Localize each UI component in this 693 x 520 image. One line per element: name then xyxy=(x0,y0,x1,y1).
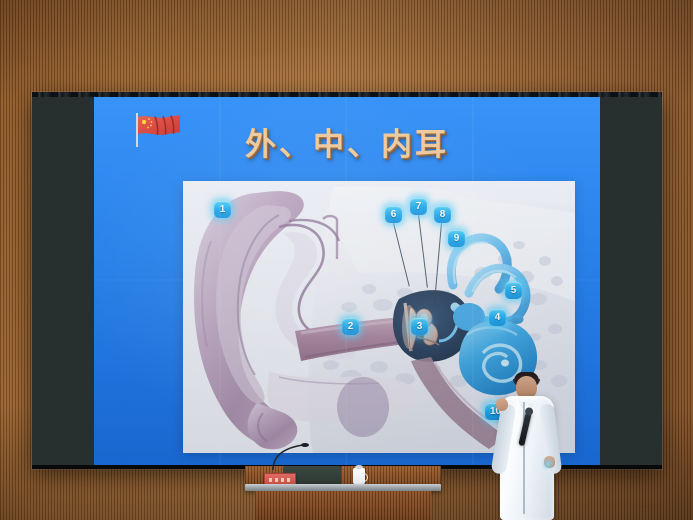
diagram-label-2[interactable]: 2 xyxy=(342,318,359,335)
pillarbox-left xyxy=(32,97,94,465)
diagram-label-5[interactable]: 5 xyxy=(505,282,522,299)
podium xyxy=(245,466,441,520)
diagram-label-3[interactable]: 3 xyxy=(411,318,428,335)
diagram-label-7[interactable]: 7 xyxy=(410,198,427,215)
diagram-label-1[interactable]: 1 xyxy=(214,201,231,218)
pillarbox-right xyxy=(600,97,662,465)
diagram-label-6[interactable]: 6 xyxy=(385,206,402,223)
presenter xyxy=(496,372,558,520)
diagram-label-8[interactable]: 8 xyxy=(434,206,451,223)
podium-desk-surface xyxy=(245,484,441,491)
diagram-label-9[interactable]: 9 xyxy=(448,230,465,247)
presenter-hand-glow xyxy=(540,458,556,470)
podium-front-panel xyxy=(255,491,431,520)
slide-title: 外、中、内耳 xyxy=(94,119,600,164)
diagram-label-4[interactable]: 4 xyxy=(489,309,506,326)
lecture-hall-scene: 外、中、内耳 xyxy=(0,0,693,520)
water-cup xyxy=(353,468,365,485)
led-display[interactable]: 外、中、内耳 xyxy=(32,92,662,469)
